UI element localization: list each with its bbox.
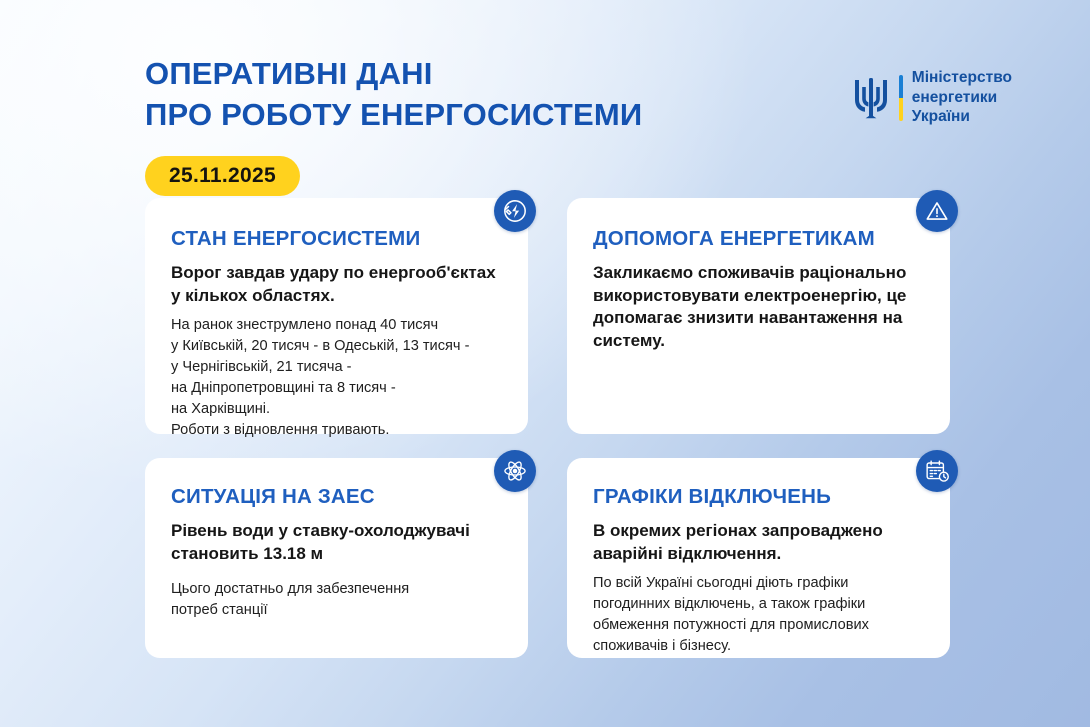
card-grid: СТАН ЕНЕРГОСИСТЕМИ Ворог завдав удару по… (145, 198, 950, 658)
card-body-line-3: обмеження потужності для промислових (593, 615, 924, 636)
card-lead-line-2: аварійні відключення. (593, 544, 781, 563)
calendar-clock-icon (916, 450, 958, 492)
card-body: Цього достатньо для забезпечення потреб … (171, 579, 502, 621)
date-badge: 25.11.2025 (145, 156, 300, 196)
card-title: ГРАФІКИ ВІДКЛЮЧЕНЬ (593, 486, 924, 509)
logo-divider-bar (899, 75, 903, 121)
card-body-line-5: на Харківщині. (171, 399, 502, 420)
header: ОПЕРАТИВНІ ДАНІ ПРО РОБОТУ ЕНЕРГОСИСТЕМИ… (145, 54, 1020, 194)
card-title: СИТУАЦІЯ НА ЗАЕС (171, 486, 502, 509)
card-body-line-2: потреб станції (171, 600, 502, 621)
card-body-line-3: у Чернігівській, 21 тисяча - (171, 357, 502, 378)
card-lead: В окремих регіонах запроваджено аварійні… (593, 520, 924, 565)
infographic-poster: ОПЕРАТИВНІ ДАНІ ПРО РОБОТУ ЕНЕРГОСИСТЕМИ… (0, 0, 1090, 727)
card-zaes-situation: СИТУАЦІЯ НА ЗАЕС Рівень води у ставку-ох… (145, 458, 528, 658)
card-lead-line-2: становить 13.18 м (171, 544, 323, 563)
plug-lightning-icon (494, 190, 536, 232)
ministry-logo-line-3: України (912, 108, 970, 125)
card-body-line-6: Роботи з відновлення тривають. (171, 420, 502, 441)
card-lead: Рівень води у ставку-охолоджувачі станов… (171, 520, 502, 565)
card-body-line-1: По всій Україні сьогодні діють графіки (593, 573, 924, 594)
card-lead-line-1: Закликаємо споживачів (593, 263, 795, 282)
card-lead: Закликаємо споживачів раціонально викори… (593, 262, 924, 352)
card-body-line-4: на Дніпропетровщині та 8 тисяч - (171, 378, 502, 399)
card-lead-line-1: В окремих регіонах запроваджено (593, 521, 883, 540)
card-body-line-2: у Київській, 20 тисяч - в Одеській, 13 т… (171, 336, 502, 357)
card-title: ДОПОМОГА ЕНЕРГЕТИКАМ (593, 228, 924, 251)
card-help-energy-workers: ДОПОМОГА ЕНЕРГЕТИКАМ Закликаємо споживач… (567, 198, 950, 434)
card-body: По всій Україні сьогодні діють графіки п… (593, 573, 924, 657)
card-body: На ранок знеструмлено понад 40 тисяч у К… (171, 315, 502, 441)
card-lead-line-1: Рівень води у ставку-охолоджувачі (171, 521, 470, 540)
card-outage-schedules: ГРАФІКИ ВІДКЛЮЧЕНЬ В окремих регіонах за… (567, 458, 950, 658)
page-title-line-2: ПРО РОБОТУ ЕНЕРГОСИСТЕМИ (145, 95, 642, 136)
atom-icon (494, 450, 536, 492)
card-lead: Ворог завдав удару по енергооб'єктах у к… (171, 262, 502, 307)
ministry-logo-line-1: Міністерство (912, 69, 1012, 86)
card-energy-system-status: СТАН ЕНЕРГОСИСТЕМИ Ворог завдав удару по… (145, 198, 528, 434)
ministry-logo-line-2: енергетики (912, 89, 997, 106)
card-body-line-2: погодинних відключень, а також графіки (593, 594, 924, 615)
card-lead-line-1: Ворог завдав удару по (171, 263, 364, 282)
card-body-line-1: Цього достатньо для забезпечення (171, 579, 502, 600)
card-body-line-4: споживачів і бізнесу. (593, 636, 924, 657)
card-title: СТАН ЕНЕРГОСИСТЕМИ (171, 228, 502, 251)
title-block: ОПЕРАТИВНІ ДАНІ ПРО РОБОТУ ЕНЕРГОСИСТЕМИ… (145, 54, 642, 196)
ukraine-trident-icon (852, 74, 890, 122)
card-body-line-1: На ранок знеструмлено понад 40 тисяч (171, 315, 502, 336)
warning-triangle-icon (916, 190, 958, 232)
page-title-line-1: ОПЕРАТИВНІ ДАНІ (145, 54, 642, 95)
ministry-logo-text: Міністерство енергетики України (912, 68, 1012, 127)
ministry-logo: Міністерство енергетики України (852, 68, 1012, 127)
card-lead-line-4: знизити навантаження (687, 308, 878, 327)
